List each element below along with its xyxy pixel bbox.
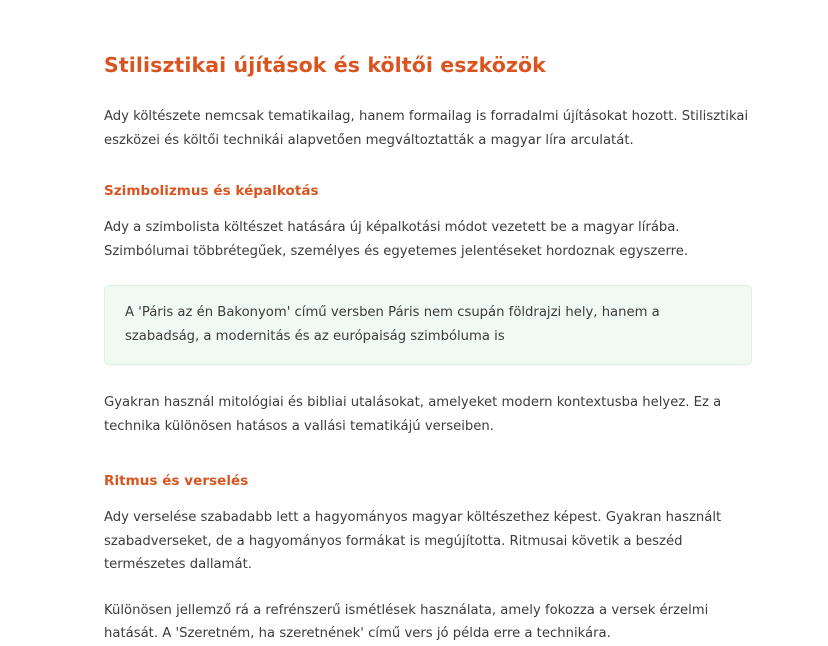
symbolism-paragraph-before-callout: Ady a szimbolista költészet hatására új …: [104, 216, 752, 263]
callout-text: A 'Páris az én Bakonyom' című versben Pá…: [125, 301, 731, 348]
heading-spacer-rhythm: [104, 464, 752, 472]
section-heading-rhythm: Ritmus és verselés: [104, 472, 752, 490]
document-page: Stilisztikai újítások és költői eszközök…: [0, 0, 828, 586]
section-heading-symbolism: Szimbolizmus és képalkotás: [104, 182, 752, 200]
page-title: Stilisztikai újítások és költői eszközök: [104, 52, 752, 79]
article-content: Stilisztikai újítások és költői eszközök…: [104, 52, 752, 646]
heading-spacer-symbolism: [104, 174, 752, 182]
symbolism-paragraph-after-callout: Gyakran használ mitológiai és bibliai ut…: [104, 391, 752, 438]
rhythm-paragraph-two: Különösen jellemző rá a refrénszerű ismé…: [104, 599, 752, 646]
callout-box-symbolism: A 'Páris az én Bakonyom' című versben Pá…: [104, 285, 752, 365]
rhythm-paragraph-one: Ady verselése szabadabb lett a hagyomány…: [104, 506, 752, 577]
intro-paragraph: Ady költészete nemcsak tematikailag, han…: [104, 105, 752, 152]
